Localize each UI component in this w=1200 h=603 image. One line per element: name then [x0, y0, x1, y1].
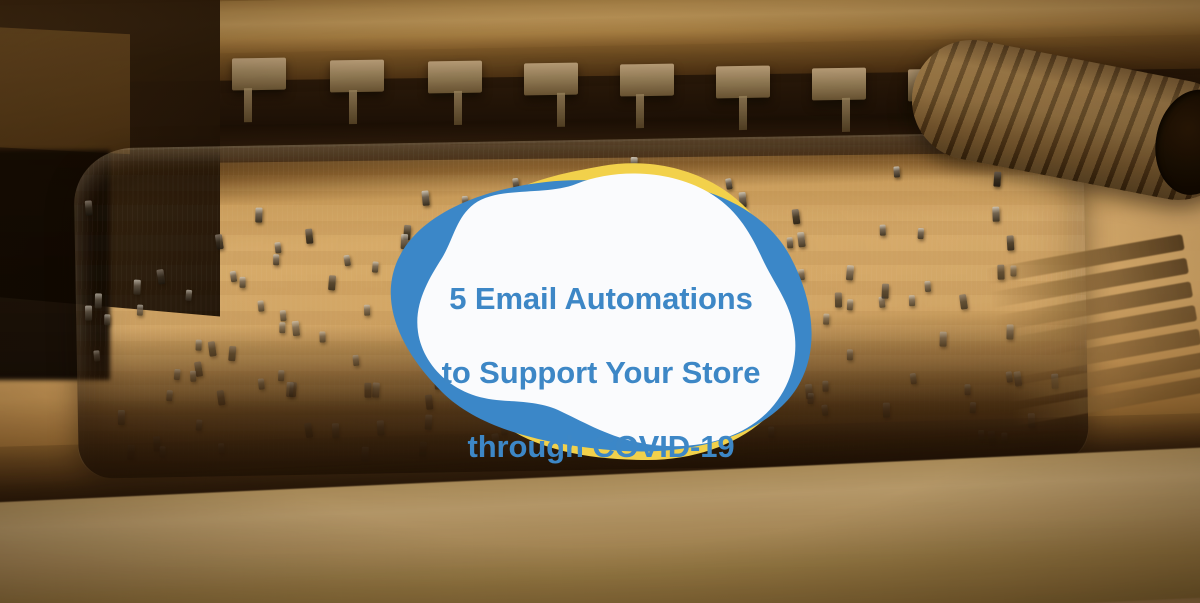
headline-line-3: through COVID-19 — [396, 428, 806, 465]
blog-hero-banner: 5 Email Automations to Support Your Stor… — [0, 0, 1200, 603]
headline: 5 Email Automations to Support Your Stor… — [396, 243, 806, 502]
headline-line-1: 5 Email Automations — [396, 280, 806, 317]
headline-line-2: to Support Your Store — [396, 354, 806, 391]
